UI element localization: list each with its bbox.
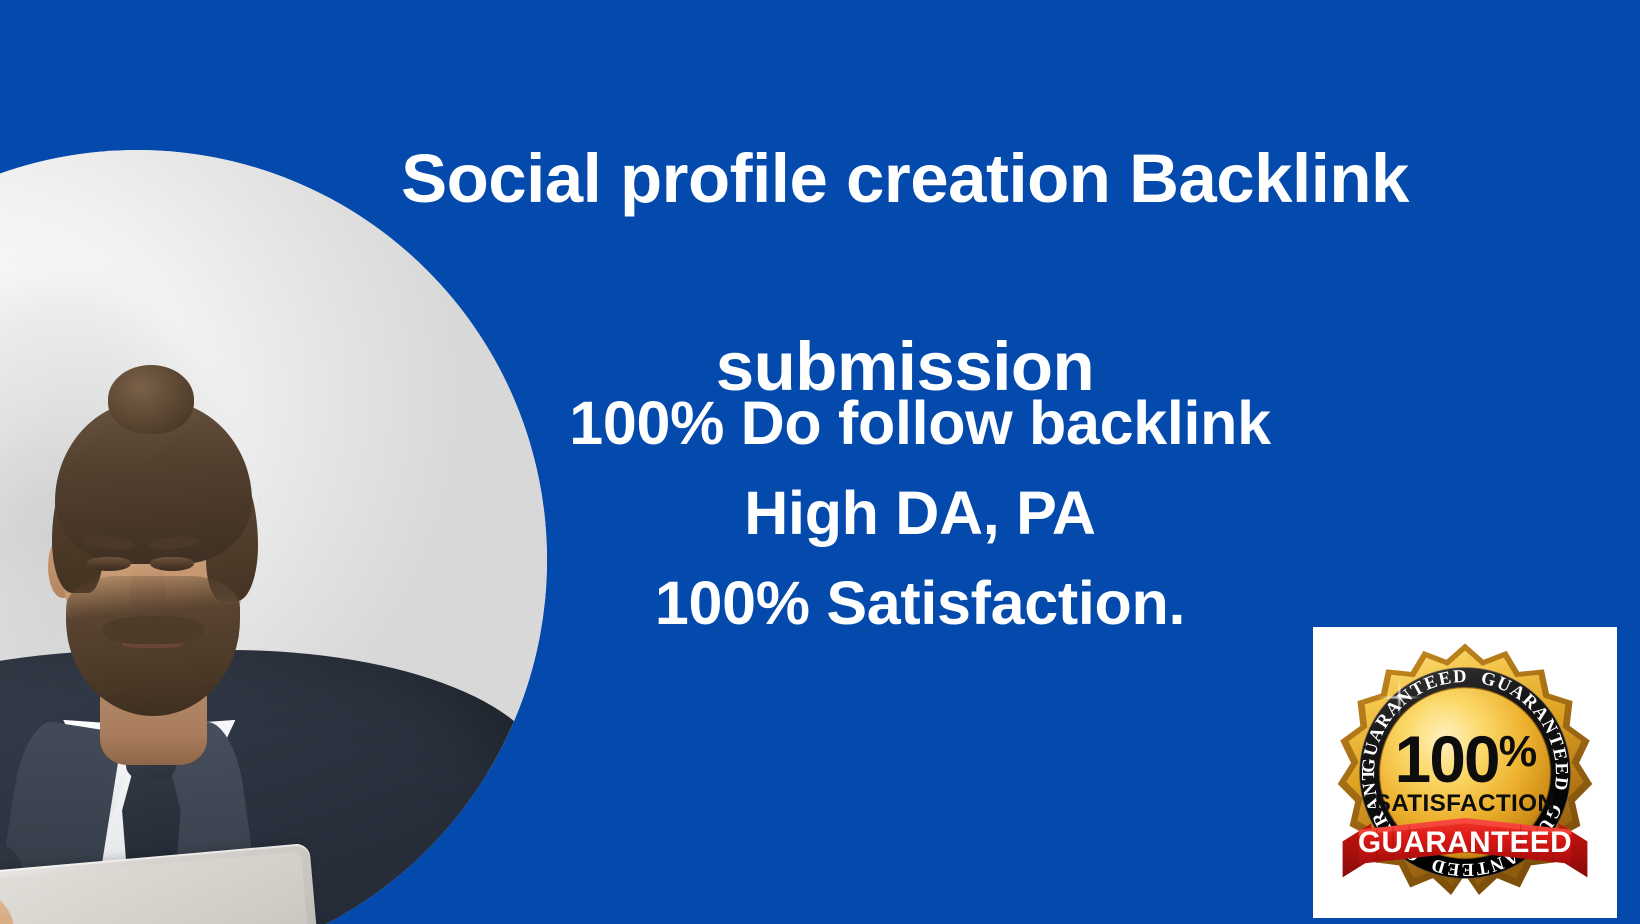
headline-line-1: Social profile creation Backlink	[401, 140, 1409, 217]
badge-satisfaction-text: SATISFACTION	[1375, 789, 1556, 816]
mustache	[103, 616, 205, 644]
guarantee-badge-card: GUARANTEED GUARANTEED GUARANTEED GUARANT…	[1313, 627, 1617, 918]
guarantee-seal-icon: GUARANTEED GUARANTEED GUARANTEED GUARANT…	[1330, 638, 1600, 908]
promotional-banner: Social profile creation Backlink submiss…	[0, 0, 1640, 924]
feature-line-2: High DA, PA	[430, 468, 1410, 558]
hair-top-knot	[108, 365, 194, 434]
feature-list: 100% Do follow backlink High DA, PA 100%…	[430, 378, 1410, 648]
feature-line-1: 100% Do follow backlink	[430, 378, 1410, 468]
feature-line-3: 100% Satisfaction.	[430, 558, 1410, 648]
badge-ribbon-text: GUARANTEED	[1358, 826, 1572, 859]
